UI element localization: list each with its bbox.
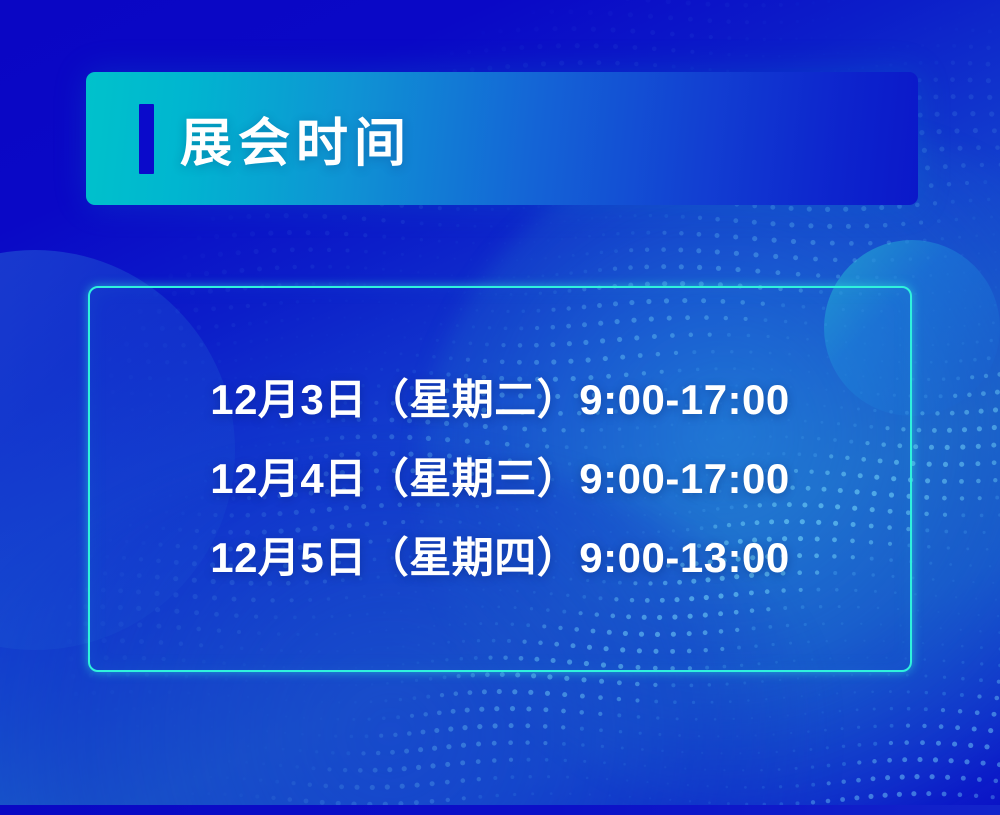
bottom-band [0, 805, 1000, 815]
header-banner: 展会时间 [86, 72, 918, 205]
schedule-frame: 12月3日（星期二）9:00-17:00 12月4日（星期三）9:00-17:0… [88, 286, 912, 672]
schedule-line: 12月5日（星期四）9:00-13:00 [210, 537, 790, 579]
schedule-list: 12月3日（星期二）9:00-17:00 12月4日（星期三）9:00-17:0… [90, 288, 910, 670]
exhibition-time-poster: 展会时间 12月3日（星期二）9:00-17:00 12月4日（星期三）9:00… [0, 0, 1000, 815]
schedule-line: 12月4日（星期三）9:00-17:00 [210, 458, 790, 500]
header-accent-bar [139, 104, 154, 174]
page-title: 展会时间 [180, 72, 412, 205]
schedule-line: 12月3日（星期二）9:00-17:00 [210, 379, 790, 421]
